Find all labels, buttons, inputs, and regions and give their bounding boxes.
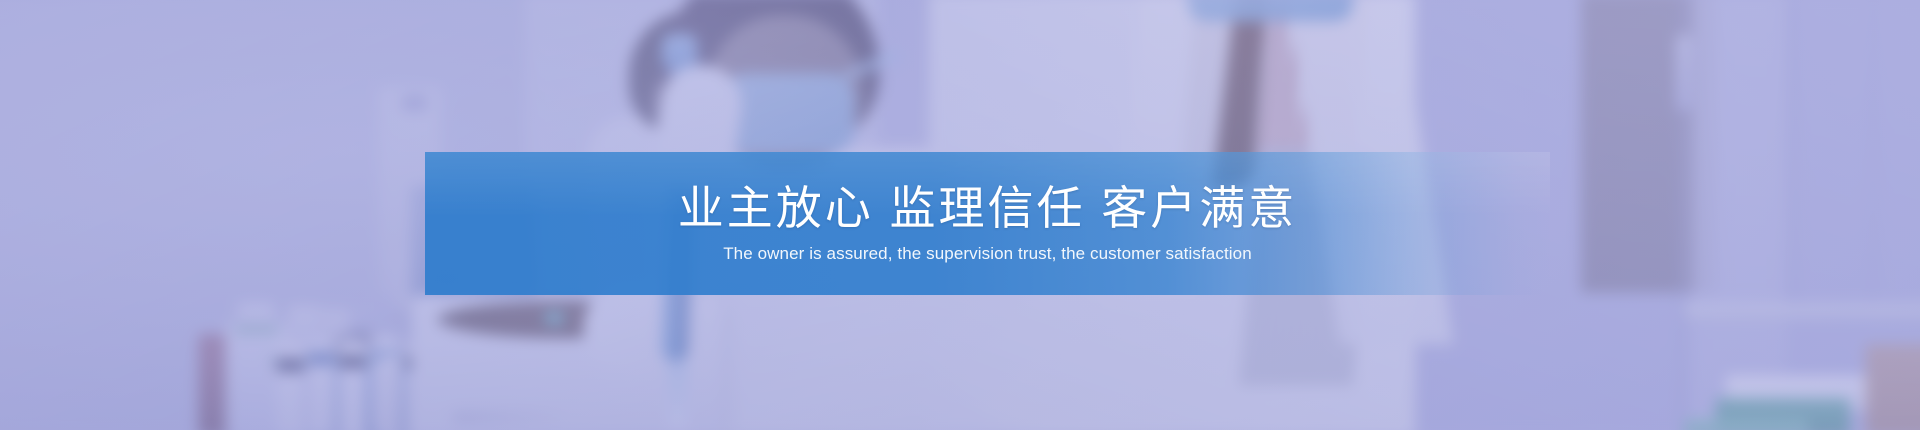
- cardboard-box: [1866, 344, 1920, 430]
- centrifuge-panel: [378, 355, 401, 430]
- counter-top: [1685, 303, 1920, 320]
- pipette-plunger: [662, 34, 697, 69]
- sample-vial: [277, 342, 304, 430]
- storage-box-green-2: [1685, 419, 1809, 430]
- window-mullion-3: [1871, 0, 1881, 303]
- hero-banner: 业主放心 监理信任 客户满意 The owner is assured, the…: [0, 0, 1920, 430]
- banner-text-block: 业主放心 监理信任 客户满意 The owner is assured, the…: [425, 152, 1550, 295]
- face-mask: [722, 73, 854, 154]
- centrifuge-foot: [453, 412, 567, 424]
- water-bottle-ring: [233, 326, 279, 334]
- sample-vial: [339, 340, 366, 430]
- water-bottle-cap: [238, 303, 275, 326]
- centrifuge-sample: [544, 311, 565, 324]
- window-pane: [1693, 0, 1786, 430]
- banner-headline: 业主放心 监理信任 客户满意: [678, 185, 1298, 231]
- sample-vial: [308, 338, 335, 430]
- face-mask-right: [1188, 0, 1354, 21]
- banner-subheadline: The owner is assured, the supervision tr…: [723, 245, 1252, 262]
- window-mullion-2: [1788, 0, 1802, 303]
- window-latch: [1676, 34, 1690, 112]
- instrument-knob: [401, 96, 428, 110]
